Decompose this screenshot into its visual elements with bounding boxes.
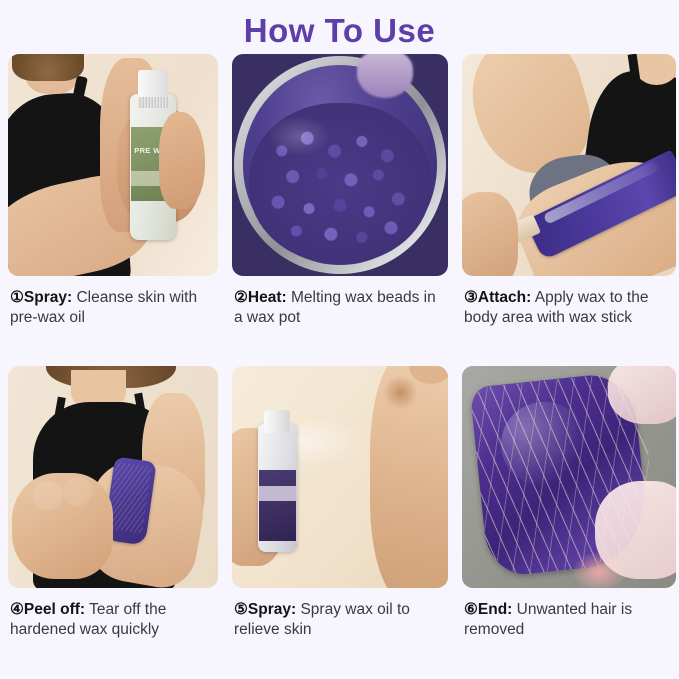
step-keyword-2: Heat:	[248, 289, 287, 306]
knuckle-highlight	[33, 481, 62, 510]
step-number-5: ⑤	[234, 601, 248, 618]
spray-mist	[292, 415, 365, 468]
step-card-5: ⑤Spray: Spray wax oil to relieve skin	[232, 366, 448, 678]
step-image-3	[462, 54, 676, 276]
step-image-5	[232, 366, 448, 588]
spray-cap	[138, 70, 167, 99]
underarm	[383, 375, 418, 411]
page-title: How To Use	[0, 0, 679, 54]
gloved-finger-top	[608, 366, 676, 424]
how-to-use-infographic: How To Use PRE WAX	[0, 0, 679, 679]
step-number-2: ②	[234, 289, 248, 306]
step-caption-1: ①Spray: Cleanse skin with pre-wax oil	[8, 276, 218, 366]
step-image-1: PRE WAX	[8, 54, 218, 276]
step-keyword-3: Attach:	[478, 289, 531, 306]
step-image-2	[232, 54, 448, 276]
step-keyword-5: Spray:	[248, 601, 296, 618]
step-card-4: ④Peel off: Tear off the hardened wax qui…	[8, 366, 218, 678]
bottle-label-stripe	[259, 486, 296, 502]
step-image-6	[462, 366, 676, 588]
step-number-1: ①	[10, 289, 24, 306]
step-number-3: ③	[464, 289, 478, 306]
bottle-label	[259, 470, 296, 541]
gloved-hand	[595, 481, 676, 579]
step-card-6: ⑥End: Unwanted hair is removed	[462, 366, 676, 678]
step-caption-3: ③Attach: Apply wax to the body area with…	[462, 276, 676, 366]
step-number-4: ④	[10, 601, 24, 618]
step-card-3: ③Attach: Apply wax to the body area with…	[462, 54, 676, 366]
step-caption-4: ④Peel off: Tear off the hardened wax qui…	[8, 588, 218, 678]
step-keyword-4: Peel off:	[24, 601, 85, 618]
fingers	[159, 112, 205, 210]
hair	[12, 54, 83, 81]
step-number-6: ⑥	[464, 601, 478, 618]
step-card-2: ②Heat: Melting wax beads in a wax pot	[232, 54, 448, 366]
step-keyword-6: End:	[478, 601, 512, 618]
step-keyword-1: Spray:	[24, 289, 72, 306]
knuckle-highlight	[63, 477, 92, 506]
step-image-4	[8, 366, 218, 588]
steps-grid-row-1: PRE WAX ①Spray: Cleanse skin with pre-wa…	[0, 54, 679, 366]
steps-grid-row-2: ④Peel off: Tear off the hardened wax qui…	[0, 366, 679, 678]
bottle-collar	[138, 97, 167, 108]
step-caption-2: ②Heat: Melting wax beads in a wax pot	[232, 276, 448, 366]
hand	[462, 192, 518, 276]
spray-cap	[264, 410, 290, 432]
wax-sheen	[267, 116, 332, 156]
step-caption-6: ⑥End: Unwanted hair is removed	[462, 588, 676, 678]
step-card-1: PRE WAX ①Spray: Cleanse skin with pre-wa…	[8, 54, 218, 366]
step-caption-5: ⑤Spray: Spray wax oil to relieve skin	[232, 588, 448, 678]
